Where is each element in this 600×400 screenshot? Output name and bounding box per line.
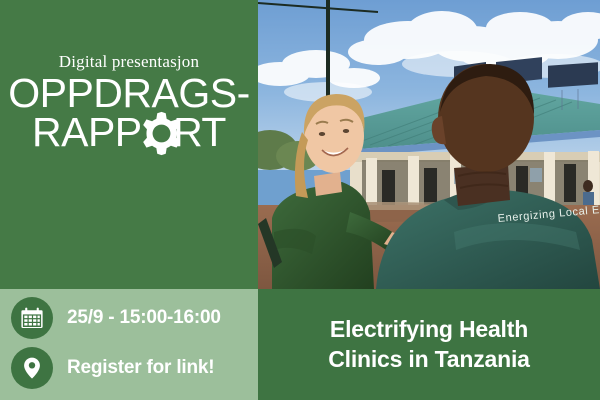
photo-panel: Energizing Local Economies <box>258 0 600 289</box>
brand-panel: Digital presentasjon OPPDRAGS- RAPPORT <box>0 0 258 289</box>
clinic-photo: Energizing Local Economies <box>258 0 600 289</box>
talk-title-line-1: Electrifying Health <box>328 315 530 344</box>
event-date-label: 25/9 - 15:00-16:00 <box>67 307 221 329</box>
brand-lockup: Digital presentasjon OPPDRAGS- RAPPORT <box>0 52 258 153</box>
logo-line-2-wrapper: RAPPORT <box>0 113 258 152</box>
logo-line-1: OPPDRAGS- <box>0 74 258 113</box>
event-row-date: 25/9 - 15:00-16:00 <box>11 297 221 339</box>
talk-title-line-2: Clinics in Tanzania <box>328 345 530 374</box>
kicker-text: Digital presentasjon <box>0 52 258 72</box>
presentation-poster: Digital presentasjon OPPDRAGS- RAPPORT <box>0 0 600 400</box>
logo-line-2: RAPPORT <box>32 113 226 152</box>
register-label: Register for link! <box>67 357 214 379</box>
event-row-register[interactable]: Register for link! <box>11 347 214 389</box>
logo-line-2-after: RT <box>173 109 226 155</box>
talk-title: Electrifying Health Clinics in Tanzania <box>328 315 530 374</box>
map-pin-icon <box>11 347 53 389</box>
talk-title-panel: Electrifying Health Clinics in Tanzania <box>258 289 600 400</box>
calendar-icon <box>11 297 53 339</box>
logo-line-2-before: RAPP <box>32 109 142 155</box>
